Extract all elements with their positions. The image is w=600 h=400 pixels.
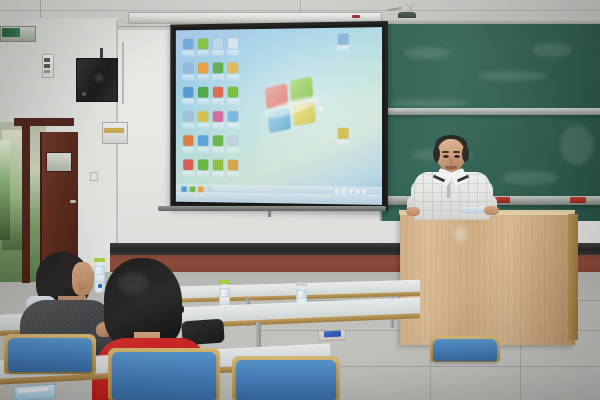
desktop-icon-glyph [228, 38, 238, 49]
desktop-icon[interactable] [197, 159, 209, 177]
chalkboard-middle-rail [380, 108, 600, 115]
desktop-icon-glyph [183, 159, 193, 170]
taskbar-quicklaunch[interactable] [176, 185, 382, 188]
light-switch[interactable] [44, 64, 50, 68]
desktop-icon[interactable] [227, 135, 239, 153]
presenter-hand [406, 207, 420, 216]
speaker-indicator [82, 92, 86, 96]
bottle-body [94, 266, 105, 293]
desktop-icon-label [227, 147, 239, 153]
desktop-icon-label [227, 98, 239, 104]
chalk-smudge [404, 47, 450, 59]
speaker-cone [92, 70, 106, 86]
screen-power-indicator [352, 15, 360, 18]
desktop-icon-glyph [228, 87, 238, 98]
desktop-icon[interactable] [182, 39, 194, 57]
student-ear [78, 277, 87, 290]
chalk-smudge [532, 43, 572, 57]
presenter-mouth [445, 166, 457, 169]
desktop-icon[interactable] [212, 63, 224, 81]
desktop-icon-glyph [198, 63, 208, 74]
desktop-icon-glyph [183, 111, 193, 122]
desktop-icon-glyph [183, 39, 193, 50]
bottle-label [220, 296, 229, 305]
desktop-icon[interactable] [212, 135, 224, 153]
desktop-icon-label [197, 123, 209, 129]
desktop-icon[interactable] [212, 38, 224, 56]
presenter-hair-side [462, 146, 469, 162]
floor-grout-line [300, 366, 600, 367]
desktop-icon-label [227, 74, 239, 80]
lectern-paper[interactable] [462, 207, 484, 213]
bottle-label-mark [98, 284, 102, 288]
desktop-icon[interactable] [182, 87, 194, 104]
desktop-icon[interactable] [182, 111, 194, 128]
desktop-icon-label [212, 50, 224, 56]
desktop-icon-glyph [228, 62, 238, 73]
desktop-icon-glyph [213, 38, 223, 49]
auditorium-seat[interactable] [112, 352, 216, 400]
desktop-icon-label [197, 171, 209, 177]
desktop-icon-label [337, 45, 350, 51]
desktop-icon[interactable] [212, 111, 224, 128]
desktop-icon[interactable] [227, 87, 239, 105]
desktop-icon[interactable] [182, 159, 194, 176]
desktop-icon-glyph [198, 39, 208, 50]
control-box-label [104, 128, 124, 133]
desktop-icon[interactable] [197, 111, 209, 128]
projected-desktop[interactable] [176, 27, 382, 205]
desktop-icon-glyph [213, 160, 223, 171]
chalk-smudge [560, 125, 594, 165]
desktop-icon-label [182, 99, 194, 105]
desktop-icon[interactable] [212, 160, 224, 178]
water-bottle[interactable] [94, 258, 105, 293]
desktop-icon-label [197, 147, 209, 153]
presenter-hair-side [433, 146, 440, 162]
tray-icon[interactable] [342, 189, 346, 193]
desktop-icon[interactable] [227, 62, 239, 80]
desktop-icon-glyph [213, 63, 223, 74]
chalk-tray-eraser[interactable] [570, 197, 586, 203]
podium-scuff [455, 226, 467, 242]
desktop-icon-label [197, 50, 209, 56]
desktop-icon[interactable] [197, 63, 209, 81]
desktop-icon-label [212, 147, 224, 153]
desktop-icon-label [212, 74, 224, 80]
desktop-icon-glyph [338, 128, 349, 139]
desktop-icon-glyph [228, 135, 238, 146]
desktop-icon-label [212, 99, 224, 105]
tray-icon[interactable] [362, 190, 366, 194]
desktop-icon-label [197, 74, 209, 80]
desktop-icon-label [212, 123, 224, 129]
desktop-icon[interactable] [212, 87, 224, 105]
presenter-nose [449, 158, 453, 165]
auditorium-seat[interactable] [236, 360, 336, 400]
presenter-eye [454, 155, 460, 158]
desktop-icon[interactable] [227, 160, 239, 178]
light-switch[interactable] [44, 70, 50, 73]
student-hair-highlight [118, 272, 148, 294]
desktop-icon-glyph [213, 111, 223, 122]
screen-bottom-light-band [176, 192, 382, 205]
control-box[interactable] [102, 122, 128, 144]
desktop-icon-label [212, 171, 224, 177]
desktop-icon-label [337, 140, 350, 146]
desktop-icon-glyph [198, 87, 208, 98]
desktop-icon-glyph [183, 135, 193, 146]
bottle-label [95, 274, 104, 283]
windows-flag-logo [265, 78, 318, 137]
desktop-icon-glyph [183, 87, 193, 98]
desktop-icon-label [227, 50, 239, 56]
chalkboard-top-rail [380, 18, 600, 24]
desktop-icon[interactable] [182, 135, 194, 152]
auditorium-seat[interactable] [433, 339, 497, 361]
desktop-icon[interactable] [337, 34, 350, 52]
desktop-icon-label [197, 99, 209, 105]
classroom-scene [0, 0, 600, 400]
corridor-window [0, 140, 10, 240]
door-handle[interactable] [70, 200, 76, 203]
exit-sign-face [2, 28, 20, 37]
desktop-icon[interactable] [197, 87, 209, 104]
presenter-eye [443, 155, 449, 158]
door-vision-panel [46, 152, 72, 172]
tray-icon[interactable] [335, 189, 339, 193]
power-outlet[interactable] [90, 172, 98, 181]
chalk-smudge [478, 71, 548, 81]
desktop-icon[interactable] [227, 111, 239, 129]
tray-icon[interactable] [355, 190, 359, 194]
podium-wood-grain [400, 215, 572, 342]
desktop-icon-label [182, 171, 194, 177]
desktop-icon-glyph [198, 160, 208, 171]
desktop-icon-glyph [228, 111, 238, 122]
desktop-icon-label [182, 123, 194, 129]
auditorium-seat[interactable] [8, 338, 92, 372]
desktop-icon[interactable] [227, 38, 239, 56]
mouse-pointer-icon [319, 107, 322, 111]
presenter-hand [484, 206, 499, 215]
light-switch[interactable] [44, 58, 50, 62]
desktop-icon-label [182, 50, 194, 56]
projection-screen[interactable] [170, 21, 388, 211]
smartphone-screen[interactable] [324, 331, 341, 338]
desktop-icon-label [227, 123, 239, 129]
desktop-icon-label [182, 74, 194, 80]
desktop-icon-label [182, 147, 194, 153]
chalk-smudge [502, 171, 558, 185]
desktop-icon-label [227, 171, 239, 177]
desktop-icon-glyph [338, 34, 349, 45]
desktop-icon-glyph [198, 135, 208, 146]
projection-screen-bottom-bar [158, 206, 386, 211]
desktop-icon[interactable] [197, 39, 209, 57]
desktop-icon-glyph [183, 63, 193, 74]
desktop-icon[interactable] [337, 128, 350, 146]
screen-pull-tab[interactable] [268, 211, 271, 217]
door-frame-jamb [22, 118, 30, 283]
desktop-icon[interactable] [182, 63, 194, 80]
tray-icon[interactable] [349, 189, 353, 193]
chalk-smudge [390, 99, 470, 107]
desktop-icon-glyph [228, 160, 238, 171]
desktop-icon-glyph [198, 111, 208, 122]
cable-conduit [122, 42, 124, 104]
desktop-icon-glyph [213, 135, 223, 146]
desktop-icon[interactable] [197, 135, 209, 152]
presenter-eyebrow [442, 151, 449, 153]
podium-side-panel [568, 214, 578, 340]
desktop-icon-glyph [213, 87, 223, 98]
presenter-eyebrow [453, 151, 460, 153]
